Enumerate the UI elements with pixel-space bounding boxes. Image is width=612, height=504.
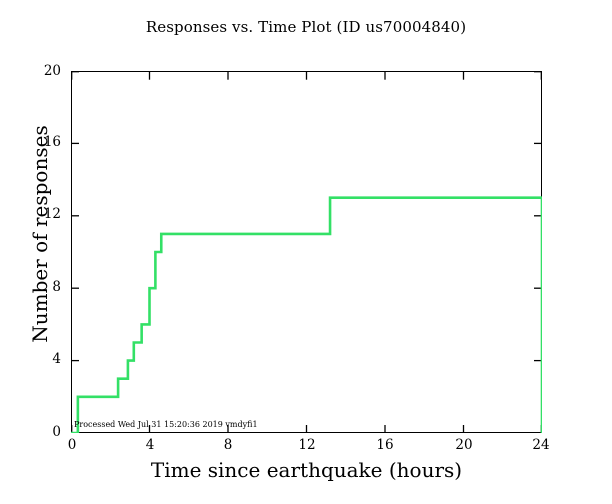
x-tick-label: 0 <box>52 437 92 453</box>
x-axis-label: Time since earthquake (hours) <box>71 458 542 482</box>
x-tick-label: 16 <box>365 437 405 453</box>
chart-page: Responses vs. Time Plot (ID us70004840) <box>0 0 612 504</box>
x-tick-label: 8 <box>208 437 248 453</box>
x-tick-label: 4 <box>130 437 170 453</box>
processed-annotation: Processed Wed Jul 31 15:20:36 2019 vmdyf… <box>74 420 258 429</box>
x-tick-label: 24 <box>521 437 561 453</box>
y-axis-label: Number of responses <box>28 39 52 429</box>
x-tick-label: 20 <box>444 437 484 453</box>
x-tick-label: 12 <box>287 437 327 453</box>
